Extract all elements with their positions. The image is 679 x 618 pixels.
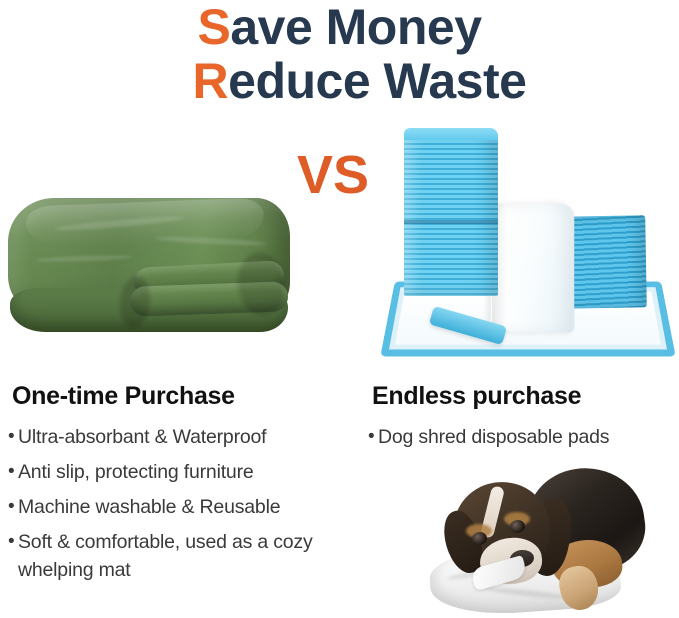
headline-line-1: Save Money xyxy=(0,0,679,52)
bullet-icon: • xyxy=(368,423,378,450)
bullet-icon: • xyxy=(8,528,18,555)
list-item: • Soft & comfortable, used as a cozy whe… xyxy=(8,528,360,584)
bullet-icon: • xyxy=(8,493,18,520)
list-item: • Dog shred disposable pads xyxy=(368,423,673,451)
benefit-text: Ultra-absorbant & Waterproof xyxy=(18,423,360,451)
benefit-list-right: • Dog shred disposable pads xyxy=(368,423,673,451)
headline-initial-s: S xyxy=(197,0,230,55)
list-item: • Machine washable & Reusable xyxy=(8,493,360,521)
headline-line-2: Reduce Waste xyxy=(0,52,679,106)
bullet-icon: • xyxy=(8,458,18,485)
column-one-time-purchase: One-time Purchase • Ultra-absorbant & Wa… xyxy=(8,382,360,591)
benefit-list-left: • Ultra-absorbant & Waterproof • Anti sl… xyxy=(8,423,360,584)
pad-stack-left-band xyxy=(404,220,498,224)
puppy-photo xyxy=(424,458,668,614)
column-heading-left: One-time Purchase xyxy=(12,382,360,411)
blanket-product-image xyxy=(6,192,296,352)
disposable-pads-image xyxy=(386,128,676,360)
pad-stack-left xyxy=(404,130,498,296)
headline-line-2-text: educe Waste xyxy=(228,53,526,109)
pad-stack-left-top xyxy=(404,128,498,140)
column-endless-purchase: Endless purchase • Dog shred disposable … xyxy=(368,382,673,458)
benefit-text: Soft & comfortable, used as a cozy whelp… xyxy=(18,528,360,584)
benefit-text: Machine washable & Reusable xyxy=(18,493,360,521)
list-item: • Ultra-absorbant & Waterproof xyxy=(8,423,360,451)
benefit-text: Dog shred disposable pads xyxy=(378,423,673,451)
headline: Save Money Reduce Waste xyxy=(0,0,679,106)
column-heading-right: Endless purchase xyxy=(372,382,673,411)
headline-line-1-text: ave Money xyxy=(230,0,481,55)
headline-initial-r: R xyxy=(193,53,229,109)
versus-label: VS xyxy=(297,148,369,202)
bullet-icon: • xyxy=(8,423,18,450)
list-item: • Anti slip, protecting furniture xyxy=(8,458,360,486)
benefit-text: Anti slip, protecting furniture xyxy=(18,458,360,486)
